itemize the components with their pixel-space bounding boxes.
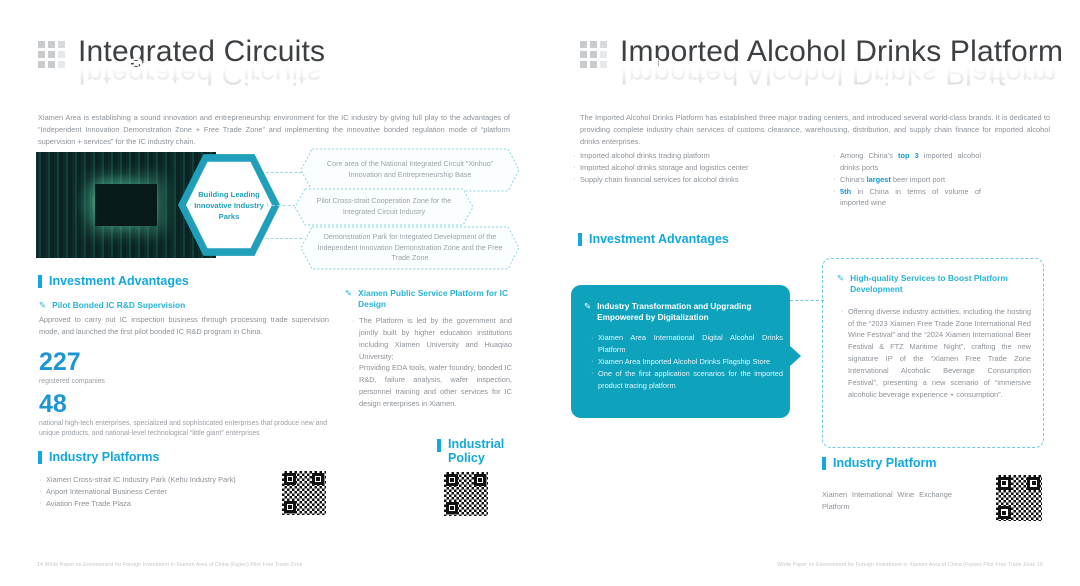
left-page-header: Integrated Circuits Integrated Circuits [38, 36, 325, 68]
section-heading-industry-platform: Industry Platform [822, 456, 937, 470]
subhead-text: High-quality Services to Boost Platform … [850, 273, 1027, 296]
list-item: Aviation Free Trade Plaza [39, 498, 289, 510]
heading-bar-icon [38, 451, 42, 464]
dot-grid-icon [38, 41, 65, 68]
list-item: Among China’s top 3 imported alcohol dri… [833, 150, 981, 174]
connector-line-3 [266, 238, 302, 239]
heading-bar-icon [437, 439, 441, 452]
diagram-callout-3-text: Demonstration Park for Integrated Develo… [300, 232, 520, 265]
industry-transformation-list: Xiamen Area International Digital Alcoho… [591, 332, 783, 391]
dot-grid-icon [580, 41, 607, 68]
card-connector-line [790, 300, 824, 301]
diagram-callout-2-text: Pilot Cross-strait Cooperation Zone for … [294, 196, 474, 218]
subhead-text: Pilot Bonded IC R&D Supervision [52, 300, 185, 311]
diagram-callout-1-text: Core area of the National Integrated Cir… [300, 159, 520, 181]
heading-bar-icon [822, 457, 826, 470]
pencil-icon: ✎ [837, 273, 844, 284]
stat-caption-48: national high-tech enterprises, speciali… [39, 419, 334, 440]
diagram-callout-3: Demonstration Park for Integrated Develo… [300, 226, 520, 270]
qr-code-industry-platforms[interactable] [282, 471, 326, 515]
pencil-icon: ✎ [39, 300, 46, 311]
subhead-industry-transformation: ✎ Industry Transformation and Upgrading … [584, 301, 774, 323]
qr-code-industry-platform[interactable] [996, 475, 1042, 521]
list-item: Anport International Business Center [39, 486, 289, 498]
high-quality-services-card: ✎ High-quality Services to Boost Platfor… [822, 258, 1044, 448]
section-heading-investment-advantages: Investment Advantages [38, 274, 189, 288]
right-intro-paragraph: The Imported Alcohol Drinks Platform has… [580, 112, 1050, 148]
section-heading-industry-platforms: Industry Platforms [38, 450, 159, 464]
diagram-callout-2: Pilot Cross-strait Cooperation Zone for … [294, 188, 474, 226]
footer-left: 14 White Paper on Environment for Foreig… [37, 562, 303, 568]
stat-value-48: 48 [39, 392, 67, 417]
subhead-high-quality-services: ✎ High-quality Services to Boost Platfor… [837, 273, 1027, 296]
list-item: Xiamen Area International Digital Alcoho… [591, 332, 783, 356]
subhead-text: Xiamen Public Service Platform for IC De… [358, 288, 510, 311]
section-heading-text: Investment Advantages [589, 232, 729, 246]
pilot-bonded-body: Approved to carry out IC inspection busi… [39, 314, 329, 338]
stat-caption-227: registered companies [39, 377, 329, 387]
bullet-text-post: in China in terms of volume of imported … [840, 187, 981, 208]
list-item: The Platform is led by the government an… [352, 315, 512, 362]
pencil-icon: ✎ [584, 301, 591, 312]
list-item: Imported alcohol drinks trading platform [573, 150, 753, 162]
right-left-bullet-list: Imported alcohol drinks trading platform… [573, 150, 753, 186]
bullet-text-pre: Among China’s [840, 151, 898, 160]
qr-code-industrial-policy[interactable] [444, 472, 488, 516]
bullet-highlight: top 3 [898, 151, 919, 160]
industry-transformation-card: ✎ Industry Transformation and Upgrading … [571, 285, 790, 418]
subhead-text: Industry Transformation and Upgrading Em… [597, 301, 774, 323]
left-intro-paragraph: Xiamen Area is establishing a sound inno… [38, 112, 510, 148]
card-pointer-arrow [789, 345, 801, 367]
diagram-callout-1: Core area of the National Integrated Cir… [300, 148, 520, 192]
right-page-header: Imported Alcohol Drinks Platform Importe… [580, 36, 1063, 68]
bullet-text-post: beer import port [891, 175, 945, 184]
subhead-pilot-bonded: ✎ Pilot Bonded IC R&D Supervision [39, 300, 329, 311]
connector-line-2 [272, 205, 296, 206]
list-item: Xiamen Cross-strait IC Industry Park (Ke… [39, 474, 289, 486]
bullet-highlight: 5th [840, 187, 851, 196]
industry-platforms-list: Xiamen Cross-strait IC Industry Park (Ke… [39, 474, 289, 510]
footer-right: White Paper on Environment for Foreign I… [777, 562, 1043, 568]
connector-line-1 [266, 172, 302, 173]
public-service-platform-list: The Platform is led by the government an… [352, 315, 512, 410]
list-item: Offering diverse industry activities, in… [841, 306, 1031, 401]
section-heading-industrial-policy: Industrial Policy [437, 437, 520, 466]
industry-platform-text: Xiamen International Wine Exchange Platf… [822, 489, 952, 513]
section-heading-text: Industry Platform [833, 456, 937, 470]
list-item: Xiamen Area Imported Alcohol Drinks Flag… [591, 356, 783, 368]
diagram-hub-label: Building Leading Innovative Industry Par… [194, 189, 264, 222]
page-title: Imported Alcohol Drinks Platform [620, 35, 1063, 68]
stat-value-227: 227 [39, 350, 81, 375]
list-item: Providing EDA tools, wafer foundry, bond… [352, 362, 512, 409]
bullet-highlight: largest [867, 175, 891, 184]
heading-bar-icon [578, 233, 582, 246]
list-item: One of the first application scenarios f… [591, 368, 783, 392]
section-heading-text: Industrial Policy [448, 437, 520, 466]
section-heading-text: Investment Advantages [49, 274, 189, 288]
bullet-text-pre: China’s [840, 175, 867, 184]
subhead-public-service-platform: ✎ Xiamen Public Service Platform for IC … [345, 288, 510, 311]
left-page: Integrated Circuits Integrated Circuits … [0, 0, 540, 586]
right-right-bullet-list: Among China’s top 3 imported alcohol dri… [833, 150, 981, 209]
list-item: China’s largest beer import port [833, 174, 981, 186]
list-item: Supply chain financial services for alco… [573, 174, 753, 186]
section-heading-investment-advantages-right: Investment Advantages [578, 232, 729, 246]
section-heading-text: Industry Platforms [49, 450, 159, 464]
list-item: Imported alcohol drinks storage and logi… [573, 162, 753, 174]
list-item: 5th in China in terms of volume of impor… [833, 186, 981, 210]
pencil-icon: ✎ [345, 288, 352, 299]
high-quality-services-list: Offering diverse industry activities, in… [841, 306, 1031, 401]
page-title: Integrated Circuits [78, 35, 325, 68]
heading-bar-icon [38, 275, 42, 288]
